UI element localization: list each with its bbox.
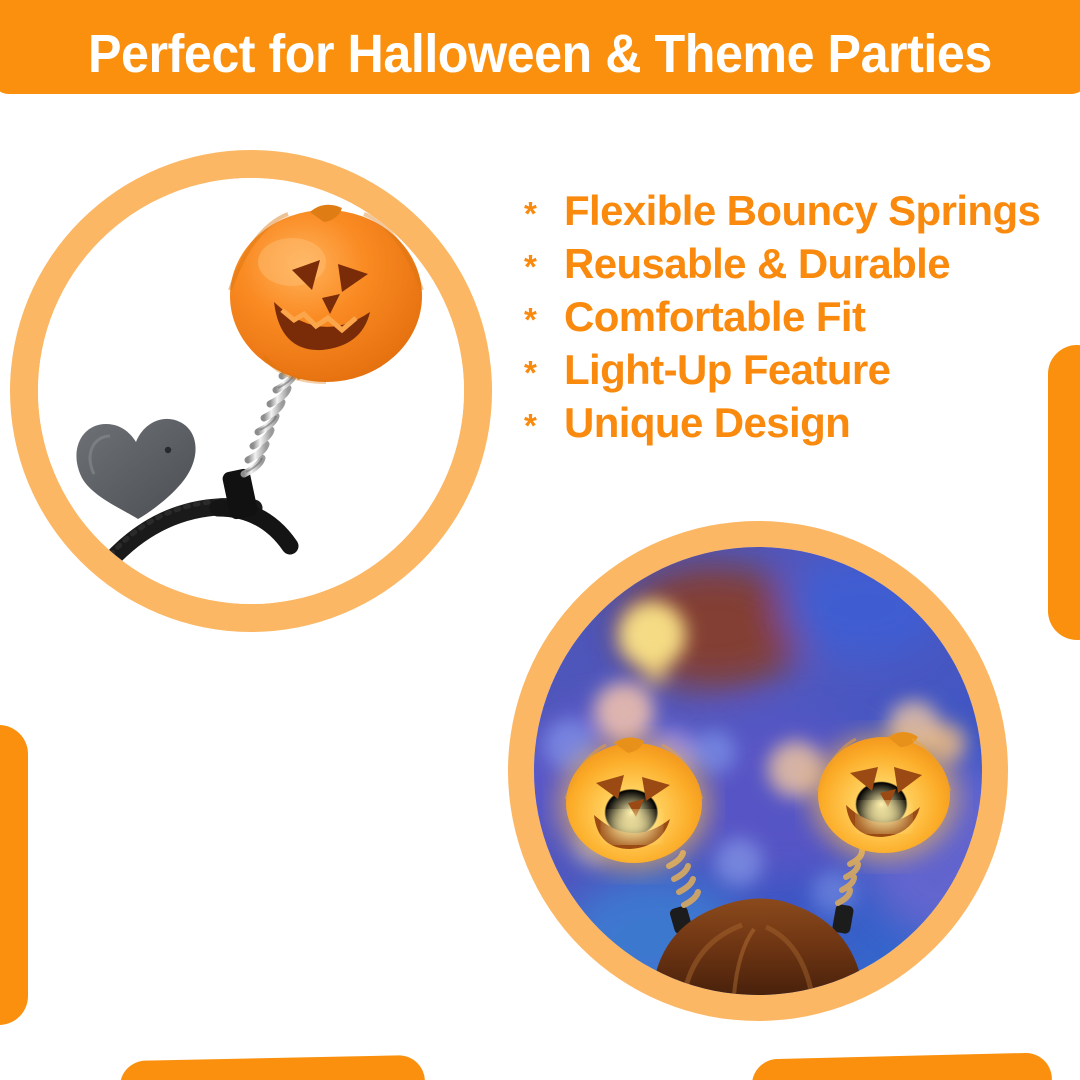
feature-label: Reusable & Durable [564,239,950,288]
product-feature-infographic: Perfect for Halloween & Theme Parties [0,0,1080,1080]
feature-label: Light-Up Feature [564,345,890,394]
feature-label: Flexible Bouncy Springs [564,186,1040,235]
asterisk-bullet-icon: * [524,295,564,344]
feature-label: Comfortable Fit [564,292,865,341]
asterisk-bullet-icon: * [524,242,564,291]
feature-list-item: * Flexible Bouncy Springs [524,186,1080,238]
asterisk-bullet-icon: * [524,401,564,450]
lifestyle-illustration [534,547,982,995]
asterisk-bullet-icon: * [524,189,564,238]
product-closeup-illustration [38,178,464,604]
feature-list-item: * Reusable & Durable [524,239,1080,291]
header-banner: Perfect for Halloween & Theme Parties [0,0,1080,94]
feature-list-item: * Light-Up Feature [524,345,1080,397]
page-title: Perfect for Halloween & Theme Parties [88,26,992,82]
product-closeup-photo [38,178,464,604]
product-closeup-photo-frame [10,150,492,632]
edge-shape-bottom-left-icon [119,1055,425,1080]
edge-shape-left-icon [0,725,28,1025]
feature-label: Unique Design [564,398,850,447]
asterisk-bullet-icon: * [524,348,564,397]
lifestyle-photo [534,547,982,995]
edge-shape-bottom-right-icon [751,1052,1052,1080]
feature-list-item: * Unique Design [524,398,1080,450]
lifestyle-photo-frame [508,521,1008,1021]
feature-list: * Flexible Bouncy Springs * Reusable & D… [524,186,1080,451]
feature-list-item: * Comfortable Fit [524,292,1080,344]
